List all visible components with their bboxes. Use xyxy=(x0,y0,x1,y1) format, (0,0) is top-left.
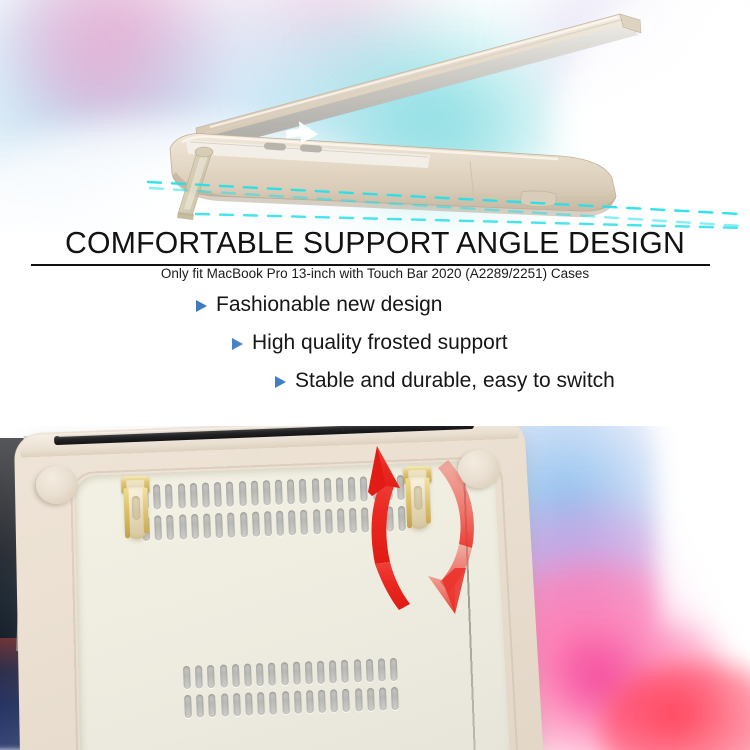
compatibility-subtitle: Only fit MacBook Pro 13-inch with Touch … xyxy=(0,266,750,281)
hero-image xyxy=(0,0,750,232)
vent-row xyxy=(142,506,406,541)
vent-group-upper xyxy=(141,475,406,547)
vent-row xyxy=(184,687,399,718)
feature-label: Fashionable new design xyxy=(216,294,443,315)
laptop-side-profile xyxy=(0,0,750,232)
list-item: Stable and durable, easy to switch xyxy=(275,370,750,391)
feature-list: Fashionable new design High quality fros… xyxy=(0,290,750,391)
page-title: COMFORTABLE SUPPORT ANGLE DESIGN xyxy=(4,228,747,259)
watercolor-white-right-edge xyxy=(660,410,750,630)
headline-block: COMFORTABLE SUPPORT ANGLE DESIGN xyxy=(0,228,750,259)
triangle-right-icon xyxy=(232,338,243,350)
feature-label: Stable and durable, easy to switch xyxy=(295,370,615,391)
triangle-right-icon xyxy=(196,300,207,312)
kickstand-clip-left xyxy=(120,475,152,542)
case-underside xyxy=(14,424,524,750)
feature-label: High quality frosted support xyxy=(252,332,508,353)
top-white-band xyxy=(0,410,750,426)
triangle-right-icon xyxy=(275,376,286,388)
kickstand-clip-right xyxy=(402,465,434,532)
list-item: Fashionable new design xyxy=(196,294,750,315)
product-marketing-image: COMFORTABLE SUPPORT ANGLE DESIGN Only fi… xyxy=(0,0,750,750)
vent-group-lower xyxy=(183,658,399,724)
list-item: High quality frosted support xyxy=(232,332,750,353)
product-underside-image xyxy=(0,410,750,750)
